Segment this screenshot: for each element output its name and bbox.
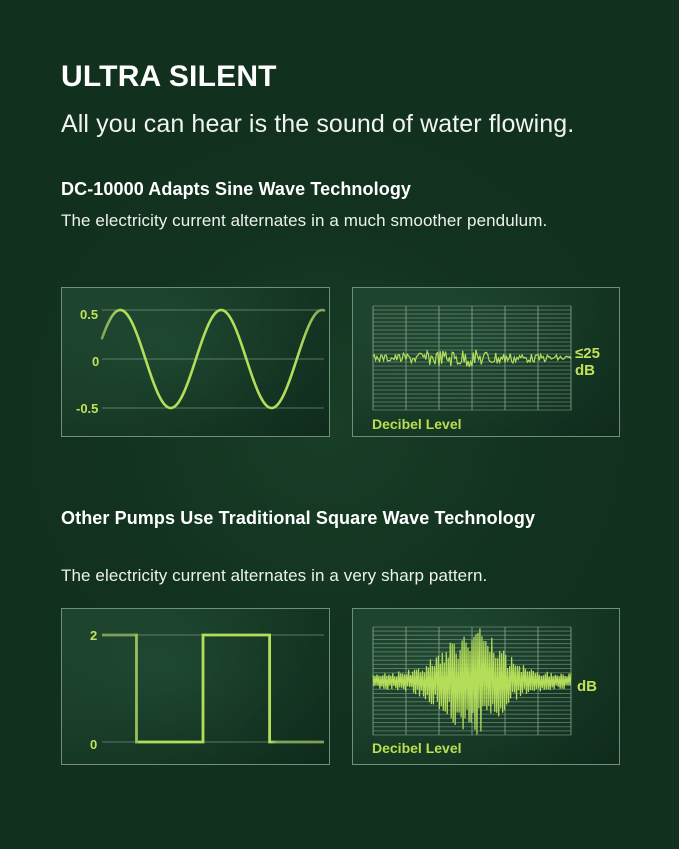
- page-headline: ULTRA SILENT: [61, 60, 277, 94]
- sine-ytick-top: 0.5: [80, 307, 98, 322]
- square-wave-plot: [62, 609, 330, 765]
- promo-page: ULTRA SILENT All you can hear is the sou…: [0, 0, 679, 849]
- chart-panel-sine-wave: 0.5 0 -0.5: [61, 287, 330, 437]
- section-title-square: Other Pumps Use Traditional Square Wave …: [61, 505, 561, 531]
- decibel-value-line2: dB: [575, 362, 595, 379]
- chart-panel-square-decibel: dB Decibel Level: [352, 608, 620, 765]
- square-ytick-bottom: 0: [90, 737, 97, 752]
- decibel-value-square: dB: [577, 678, 597, 695]
- decibel-caption-sine: Decibel Level: [372, 416, 462, 432]
- page-subheadline: All you can hear is the sound of water f…: [61, 110, 574, 139]
- decibel-value-line1: dB: [577, 678, 597, 695]
- section-body-square: The electricity current alternates in a …: [61, 563, 621, 589]
- sine-ytick-bottom: -0.5: [76, 401, 98, 416]
- section-body-sine: The electricity current alternates in a …: [61, 208, 591, 234]
- decibel-value-line1: ≤25: [575, 345, 600, 362]
- sine-wave-plot: [62, 288, 330, 437]
- sine-ytick-mid: 0: [92, 354, 99, 369]
- decibel-caption-square: Decibel Level: [372, 740, 462, 756]
- square-ytick-top: 2: [90, 628, 97, 643]
- chart-panel-sine-decibel: ≤25 dB Decibel Level: [352, 287, 620, 437]
- decibel-value-sine: ≤25 dB: [575, 345, 600, 379]
- chart-panel-square-wave: 2 0: [61, 608, 330, 765]
- section-title-sine: DC-10000 Adapts Sine Wave Technology: [61, 176, 411, 202]
